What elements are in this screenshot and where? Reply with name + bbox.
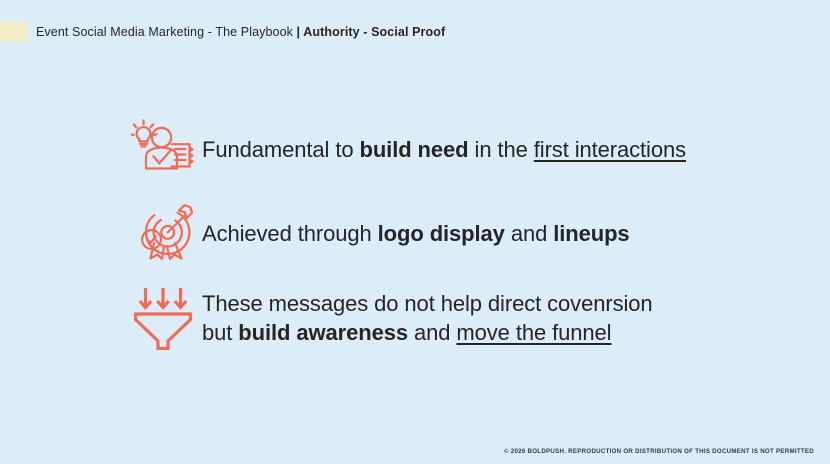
text-run-underline: first interactions <box>534 137 686 162</box>
list-item: Achieved through logo display and lineup… <box>124 192 724 276</box>
list-item-line: Achieved through logo display and lineup… <box>202 219 630 248</box>
copyright-footer: © 2026 BOLDPUSH. REPRODUCTION OR DISTRIB… <box>504 448 814 455</box>
list-item-line: Fundamental to build need in the first i… <box>202 135 686 164</box>
text-run-bold: lineups <box>553 221 629 246</box>
text-run: but <box>202 320 238 345</box>
page-title: Event Social Media Marketing - The Playb… <box>36 25 445 39</box>
slide-canvas: Event Social Media Marketing - The Playb… <box>0 0 830 464</box>
page-title-regular: Event Social Media Marketing - The Playb… <box>36 25 297 39</box>
text-run-bold: build awareness <box>238 320 408 345</box>
slide-header: Event Social Media Marketing - The Playb… <box>0 22 445 41</box>
text-run: in the <box>469 137 534 162</box>
text-run: Achieved through <box>202 221 378 246</box>
list-item: Fundamental to build need in the first i… <box>124 108 724 192</box>
list-item-line: but build awareness and move the funnel <box>202 318 653 347</box>
text-run: and <box>408 320 456 345</box>
bullet-list: Fundamental to build need in the first i… <box>124 108 724 360</box>
text-run: These messages do not help direct covenr… <box>202 291 653 316</box>
text-run-underline: move the funnel <box>456 320 611 345</box>
list-item-text: Fundamental to build need in the first i… <box>202 135 686 164</box>
list-item-line: These messages do not help direct covenr… <box>202 289 653 318</box>
list-item-text: Achieved through logo display and lineup… <box>202 219 630 248</box>
text-run: Fundamental to <box>202 137 360 162</box>
text-run-bold: build need <box>360 137 469 162</box>
page-title-bold: | Authority - Social Proof <box>297 25 446 39</box>
person-checklist-idea-icon <box>124 118 202 182</box>
text-run-bold: logo display <box>378 221 505 246</box>
target-arrow-badge-icon <box>124 203 202 265</box>
funnel-arrows-icon <box>124 286 202 350</box>
list-item: These messages do not help direct covenr… <box>124 276 724 360</box>
text-run: and <box>505 221 553 246</box>
list-item-text: These messages do not help direct covenr… <box>202 289 653 348</box>
yellow-accent-block <box>0 22 27 41</box>
